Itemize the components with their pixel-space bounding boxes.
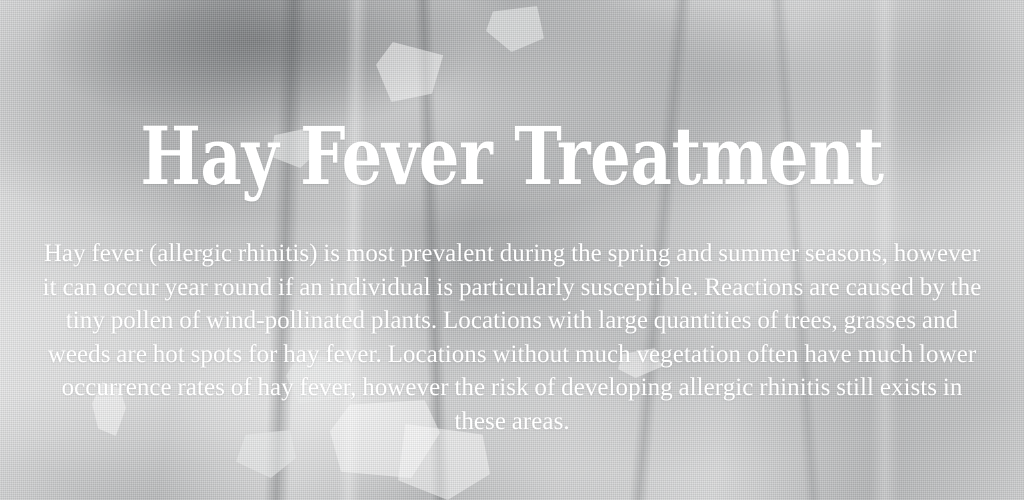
body-paragraph: Hay fever (allergic rhinitis) is most pr… — [38, 237, 986, 438]
banner-content: Hay Fever Treatment Hay fever (allergic … — [0, 0, 1024, 500]
page-title: Hay Fever Treatment — [102, 108, 921, 204]
hay-fever-banner: Hay Fever Treatment Hay fever (allergic … — [0, 0, 1024, 500]
